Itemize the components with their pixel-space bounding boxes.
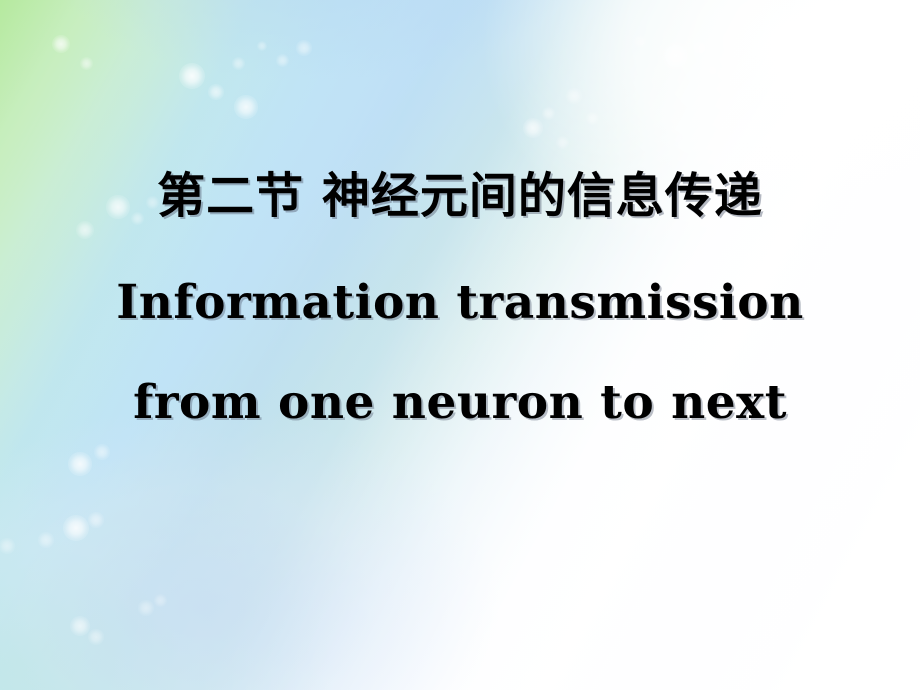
slide-title-group: 第二节 神经元间的信息传递 Information transmission f…	[0, 0, 920, 690]
presentation-slide: 第二节 神经元间的信息传递 Information transmission f…	[0, 0, 920, 690]
slide-subtitle-english-line-1: Information transmission	[0, 275, 920, 331]
slide-subtitle-english-line-2: from one neuron to next	[0, 375, 920, 431]
slide-title-chinese: 第二节 神经元间的信息传递	[0, 166, 920, 226]
